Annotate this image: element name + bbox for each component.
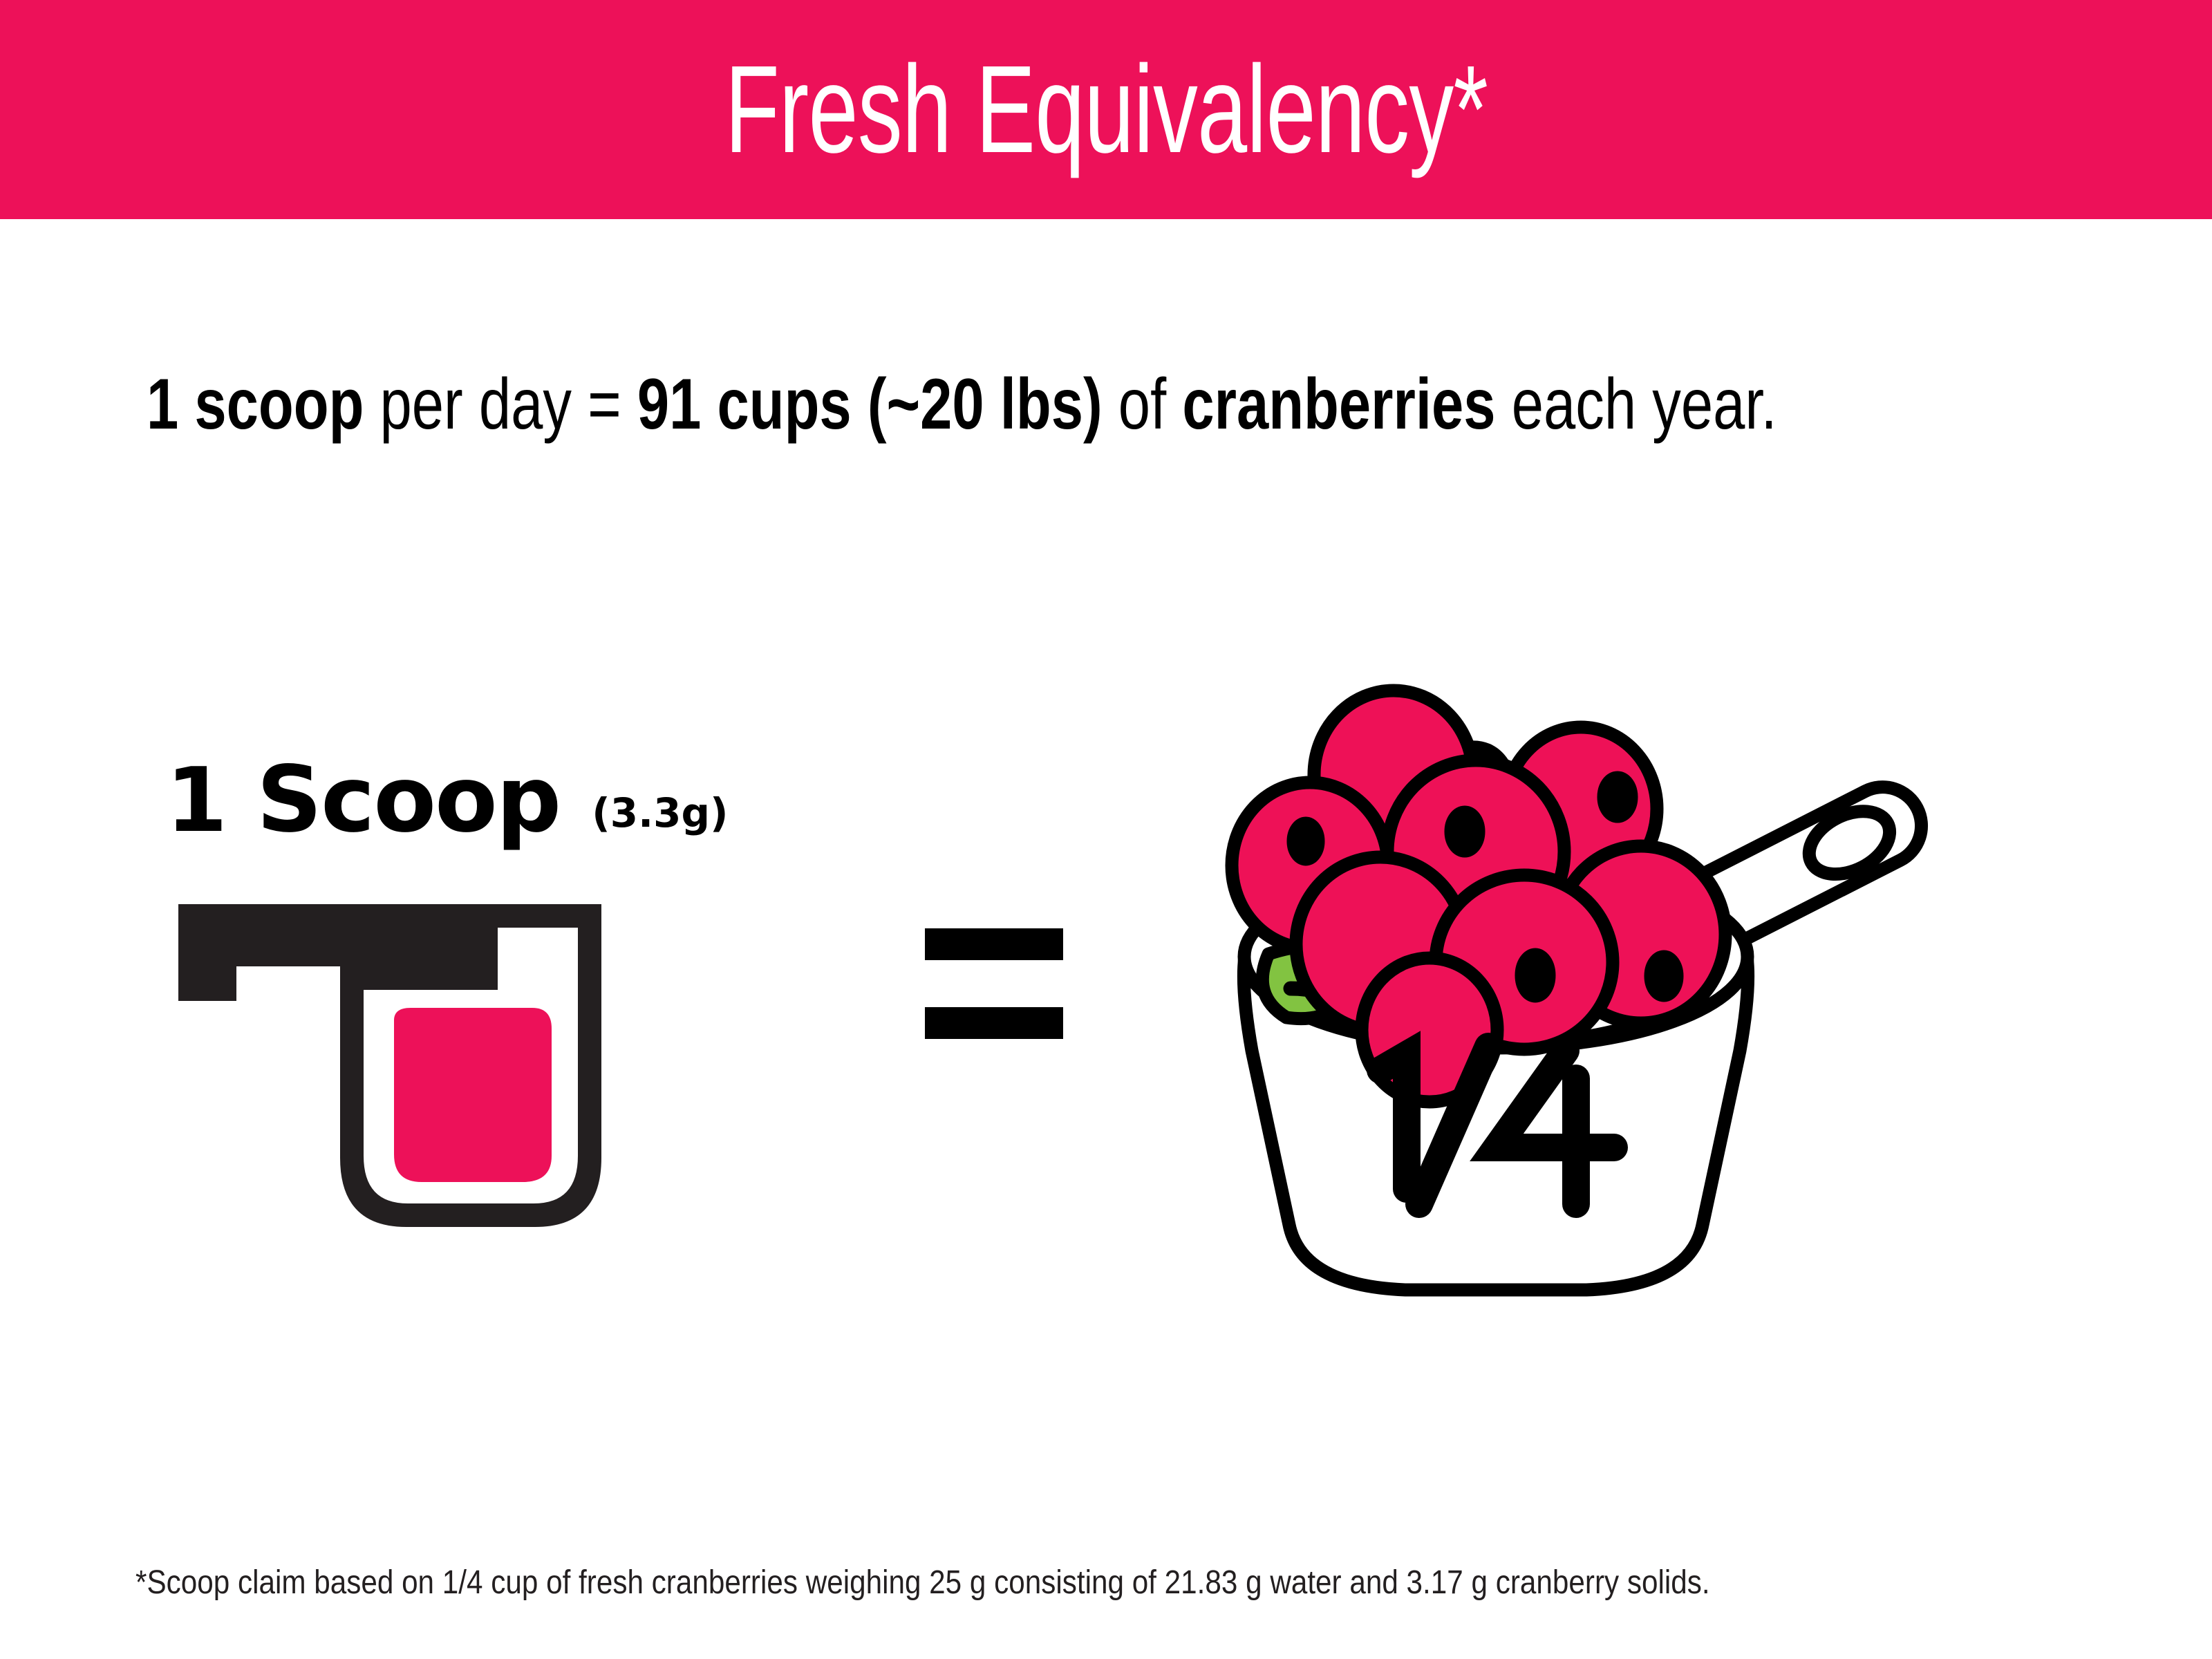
tagline-segment-cranberries: cranberries	[1182, 364, 1495, 444]
cranberry-calyx-dot	[1293, 823, 1318, 859]
tagline-segment-perday: per day =	[364, 364, 637, 444]
tagline-segment-cups: 91 cups (~20 lbs)	[637, 364, 1103, 444]
scoop-unit: Scoop	[256, 747, 560, 853]
tagline-segment-eachyear: each year.	[1496, 364, 1777, 444]
scoop-powder-fill	[394, 1008, 552, 1182]
tagline-segment-scoop: 1 scoop	[147, 364, 364, 444]
header-banner: Fresh Equivalency*	[0, 0, 2212, 219]
scoop-count: 1	[166, 749, 229, 852]
equals-bar-top	[925, 928, 1063, 960]
cranberry-calyx-dot	[1451, 812, 1479, 851]
cranberry-calyx-dot	[1604, 778, 1631, 816]
measuring-cup-icon	[1199, 664, 2015, 1313]
equals-bar-bottom	[925, 1007, 1063, 1039]
cranberry-calyx-dot	[1651, 957, 1677, 995]
cranberry-calyx-dot	[1521, 955, 1549, 996]
equals-icon	[919, 916, 1071, 1061]
page-title: Fresh Equivalency*	[724, 48, 1488, 172]
tagline-segment-of: of	[1103, 364, 1183, 444]
scoop-label: 1Scoop(3.3g)	[166, 747, 729, 853]
scoop-weight: (3.3g)	[592, 789, 728, 836]
tagline: 1 scoop per day = 91 cups (~20 lbs) of c…	[147, 365, 1739, 444]
scoop-icon	[173, 885, 767, 1272]
footnote: *Scoop claim based on 1/4 cup of fresh c…	[135, 1564, 1900, 1602]
comparison-illustration: 1Scoop(3.3g)	[0, 657, 2212, 1348]
